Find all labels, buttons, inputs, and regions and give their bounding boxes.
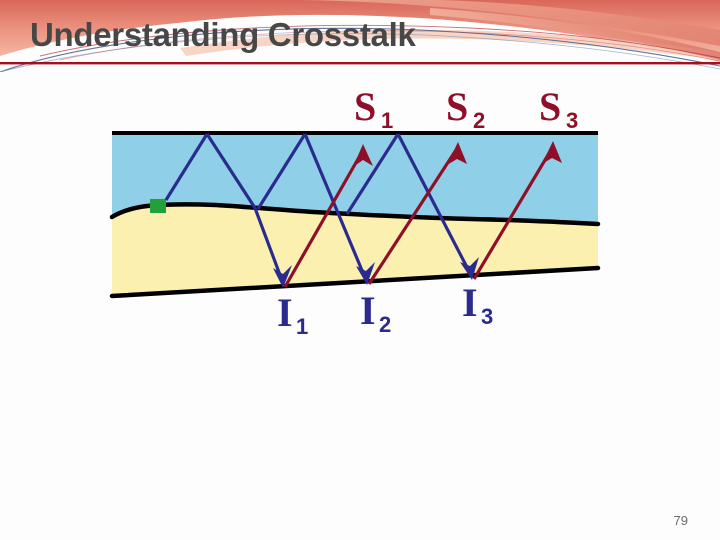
- surface-label-s3-sub: 3: [566, 108, 578, 133]
- interface-label-i2: I 2: [360, 288, 391, 337]
- surface-label-s2-base: S: [446, 84, 468, 129]
- source-marker: [150, 199, 166, 213]
- page-number: 79: [674, 513, 688, 528]
- surface-label-s3-base: S: [539, 84, 561, 129]
- surface-label-s2: S 2: [446, 84, 485, 133]
- surface-label-s1-sub: 1: [381, 108, 393, 133]
- interface-label-i1: I 1: [277, 290, 308, 339]
- interface-label-i3-sub: 3: [481, 304, 493, 329]
- interface-label-i3: I 3: [462, 280, 493, 329]
- interface-label-i2-base: I: [360, 288, 376, 333]
- crosstalk-ray-diagram: S 1 S 2 S 3 I 1 I 2 I 3: [0, 0, 720, 540]
- surface-label-s1: S 1: [354, 84, 393, 133]
- interface-label-i1-base: I: [277, 290, 293, 335]
- surface-label-s3: S 3: [539, 84, 578, 133]
- interface-label-i3-base: I: [462, 280, 478, 325]
- surface-label-s1-base: S: [354, 84, 376, 129]
- slide: Understanding Crosstalk: [0, 0, 720, 540]
- page-title: Understanding Crosstalk: [30, 16, 416, 54]
- surface-label-s2-sub: 2: [473, 108, 485, 133]
- interface-label-i2-sub: 2: [379, 312, 391, 337]
- interface-label-i1-sub: 1: [296, 314, 308, 339]
